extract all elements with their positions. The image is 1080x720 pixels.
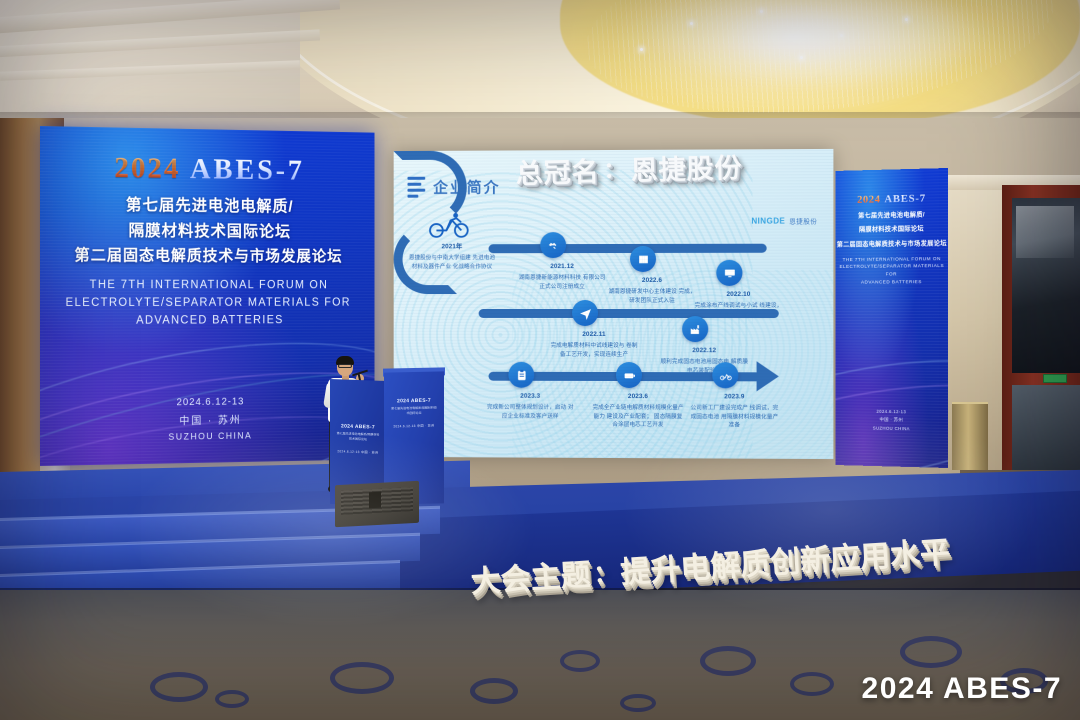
carpet-swirl xyxy=(215,690,249,708)
carpet-swirl xyxy=(620,694,656,712)
right-screen-acronym: ABES-7 xyxy=(884,192,926,205)
conference-stage-photo: 2024ABES-7 第七届先进电池电解质/ 隔膜材料技术国际论坛 第二届固态电… xyxy=(0,0,1080,720)
right-screen-location-en: SUZHOU CHINA xyxy=(836,424,948,434)
left-screen-year: 2024 xyxy=(114,151,180,186)
timeline-text: 完成电解质材料中试线建设与 卷制备工艺开发，实现连续生产 xyxy=(551,343,638,358)
right-screen-en-line-1: THE 7TH INTERNATIONAL FORUM ON xyxy=(836,256,948,265)
left-screen-cn-line-3: 第二届固态电解质技术与市场发展论坛 xyxy=(40,243,374,266)
left-screen-en-line-2: ELECTROLYTE/SEPARATOR MATERIALS FOR xyxy=(40,295,374,313)
right-screen-location-cn: 中国 · 苏州 xyxy=(836,415,948,425)
factory-icon xyxy=(682,316,708,342)
carpet-swirl xyxy=(470,678,518,704)
bike-icon xyxy=(712,362,738,388)
timeline-date: 2023.6 xyxy=(592,392,684,402)
podium-front-title: 2024 ABES-7 xyxy=(390,397,438,404)
timeline-arrow-head xyxy=(757,361,779,391)
chandelier-sparkle xyxy=(800,56,803,59)
left-screen-acronym: ABES-7 xyxy=(190,153,305,188)
door-glass-reflection xyxy=(1016,206,1074,258)
timeline-date: 2023.3 xyxy=(485,392,576,402)
timeline-date: 2022.10 xyxy=(692,290,785,300)
monitor-icon xyxy=(716,260,742,286)
timeline-text: 完成新公司整体规划设计，启动 对应企业标准及客户送样 xyxy=(487,405,574,420)
monitor-badge xyxy=(369,492,381,509)
carpet-swirl xyxy=(790,672,834,696)
chandelier-sparkle xyxy=(690,22,693,25)
send-icon xyxy=(572,300,598,326)
chandelier-sparkle xyxy=(905,18,908,21)
timeline-date: 2021.12 xyxy=(516,262,608,272)
right-led-screen: 2024ABES-7 第七届先进电池电解质/ 隔膜材料技术国际论坛 第二届固态电… xyxy=(836,168,948,468)
right-screen-cn-line-2: 隔膜材料技术国际论坛 xyxy=(836,224,948,236)
clipboard-icon xyxy=(508,362,534,388)
left-screen-cn-line-2: 隔膜材料技术国际论坛 xyxy=(40,216,374,242)
timeline-label: 2022.11 完成电解质材料中试线建设与 卷制备工艺开发，实现连续生产 xyxy=(548,330,640,359)
timeline-text: 湖南恩捷研发中心主体建设 完成，研发团队正式入驻 xyxy=(608,289,695,304)
timeline-text: 完成涂布产线调试与小试 线建设，实现公斤级制备 xyxy=(695,303,783,318)
exit-sign xyxy=(1043,374,1067,383)
left-screen-title-row: 2024ABES-7 xyxy=(40,150,374,188)
screen-wave-graphic xyxy=(836,338,948,468)
timeline-label: 2022.10 完成涂布产线调试与小试 线建设，实现公斤级制备 xyxy=(692,290,785,319)
carpet-swirl xyxy=(560,650,600,672)
company-timeline-diagram: 2021年 恩捷股份与中南大学组建 先进电池材料及器件产业 化战略合作协议 20… xyxy=(394,149,834,459)
bicycle-icon xyxy=(427,212,473,238)
chandelier-sparkle xyxy=(640,48,643,51)
right-screen-year: 2024 xyxy=(857,193,880,205)
theme-separator: ： xyxy=(592,552,618,588)
carpet-swirl xyxy=(330,662,394,694)
carpet-swirl xyxy=(700,646,756,676)
right-screen-cn-line-1: 第七届先进电池电解质/ xyxy=(836,210,948,222)
right-screen-cn-line-3: 第二届固态电解质技术与市场发展论坛 xyxy=(836,239,948,251)
theme-label: 大会主题 xyxy=(469,550,592,601)
timeline-date: 2022.6 xyxy=(606,276,698,286)
sponsor-colon: ： xyxy=(603,152,627,185)
theme-text: 提升电解质创新应用水平 xyxy=(619,527,951,592)
podium-front-date: 2024.6.12-13 中国 · 苏州 xyxy=(390,422,438,428)
handshake-icon xyxy=(540,232,566,258)
left-led-screen: 2024ABES-7 第七届先进电池电解质/ 隔膜材料技术国际论坛 第二届固态电… xyxy=(40,126,374,466)
timeline-date: 2022.12 xyxy=(658,346,750,356)
timeline-label: 2021年 恩捷股份与中南大学组建 先进电池材料及器件产业 化战略合作协议 xyxy=(406,242,497,271)
center-presentation-screen: 企业简介 NINGDE 恩捷股份 xyxy=(394,149,834,459)
timeline-label: 2023.3 完成新公司整体规划设计，启动 对应企业标准及客户送样 xyxy=(485,392,576,421)
timeline-date: 2022.11 xyxy=(548,330,640,340)
left-screen-en-line-3: ADVANCED BATTERIES xyxy=(40,312,374,330)
sponsor-name: 恩捷股份 xyxy=(630,145,743,187)
image-watermark: 2024 ABES-7 xyxy=(862,672,1062,706)
timeline-text: 湖南恩捷新能源材料科技 有限公司正式公司注册成立 xyxy=(519,275,606,290)
chandelier-sparkle xyxy=(760,10,763,13)
timeline-text: 完成全产业链电解质材料规模化量产能力 建设及产业配套； 固态隔膜复合涂层电芯工艺… xyxy=(592,405,683,429)
left-screen-en-line-1: THE 7TH INTERNATIONAL FORUM ON xyxy=(40,277,374,295)
podium-back-subtitle: 第七届先进电池电解质/隔膜材料技术国际论坛 xyxy=(336,431,380,442)
timeline-date: 2023.9 xyxy=(688,392,781,402)
right-screen-en-line-2: ELECTROLYTE/SEPARATOR MATERIALS FOR xyxy=(836,263,948,279)
carpet-swirl xyxy=(900,636,962,668)
timeline-date: 2021年 xyxy=(406,242,497,252)
book-icon xyxy=(630,246,656,272)
podium-front-subtitle: 第七届先进电池电解质/隔膜材料技术国际论坛 xyxy=(390,405,438,415)
timeline-path-segment xyxy=(489,244,767,253)
sponsor-label-prefix: 总冠名 xyxy=(515,149,600,190)
chandelier-sparkle xyxy=(840,34,843,37)
timeline-label: 2022.6 湖南恩捷研发中心主体建设 完成，研发团队正式入驻 xyxy=(606,276,698,305)
carpet-swirl xyxy=(150,672,208,702)
podium-back-date: 2024.6.12-13 中国 · 苏州 xyxy=(336,448,380,455)
screen-wave-graphic xyxy=(836,368,948,468)
timeline-label: 2023.6 完成全产业链电解质材料规模化量产能力 建设及产业配套； 固态隔膜复… xyxy=(592,392,684,430)
timeline-text: 恩捷股份与中南大学组建 先进电池材料及器件产业 化战略合作协议 xyxy=(409,255,495,270)
sponsor-banner: 总冠名 ： 恩捷股份 xyxy=(509,143,748,194)
right-screen-en-line-3: ADVANCED BATTERIES xyxy=(836,279,948,287)
timeline-label: 2021.12 湖南恩捷新能源材料科技 有限公司正式公司注册成立 xyxy=(516,262,608,291)
speaker-glasses xyxy=(338,364,352,368)
podium-back-title: 2024 ABES-7 xyxy=(336,423,380,431)
timeline-text: 公司新工厂建设完成产 线调试，完成固态电池 用隔膜材料规模化量产 准备 xyxy=(691,405,779,429)
left-screen-cn-line-1: 第七届先进电池电解质/ xyxy=(40,190,374,217)
right-screen-date: 2024.6.12-13 xyxy=(836,407,948,417)
gold-side-cabinet xyxy=(952,402,988,470)
timeline-label: 2023.9 公司新工厂建设完成产 线调试，完成固态电池 用隔膜材料规模化量产 … xyxy=(688,392,781,430)
battery-icon xyxy=(616,362,642,388)
